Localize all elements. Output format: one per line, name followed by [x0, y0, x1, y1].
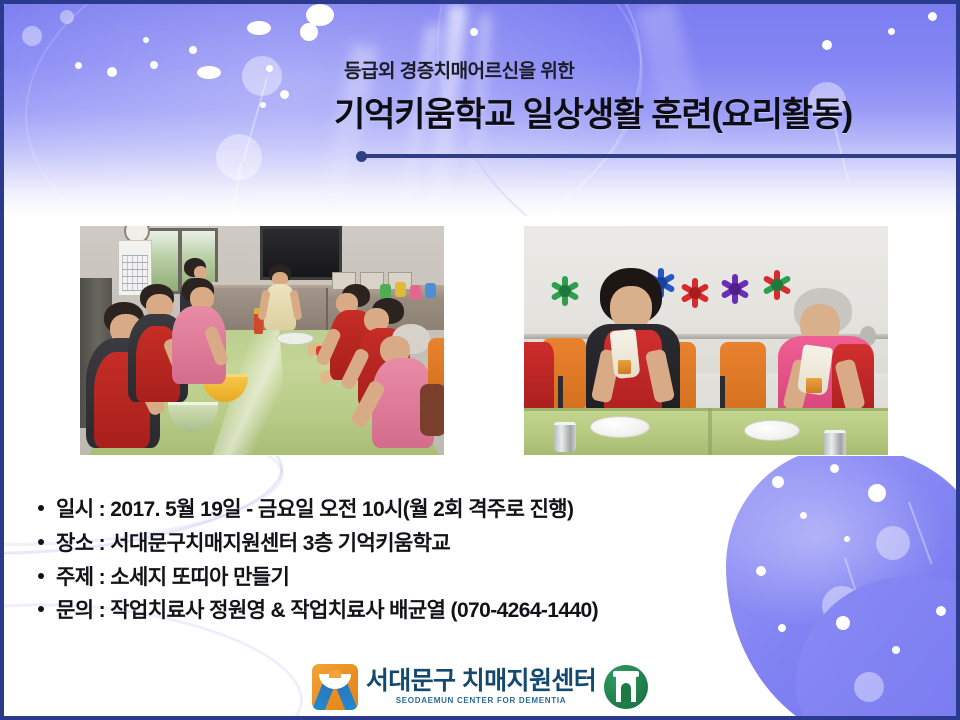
photo-tortilla-filling — [806, 378, 822, 393]
poster-slide: 등급외 경증치매어르신을 위한 기억키움학교 일상생활 훈련(요리활동) — [0, 0, 960, 720]
header-bokeh-dot — [470, 28, 478, 36]
logo-name-korean: 서대문구 치매지원센터 — [366, 669, 596, 694]
gate-swoosh — [606, 677, 646, 699]
independence-gate-emblem — [604, 665, 648, 709]
header-bokeh-dot — [300, 23, 318, 41]
decor-bokeh-dot — [830, 464, 839, 473]
decor-bokeh-dot — [876, 526, 910, 560]
poster-title: 기억키움학교 일상생활 훈련(요리활동) — [334, 87, 934, 136]
header-bokeh-dot — [197, 66, 221, 79]
header-bokeh-dot — [888, 28, 895, 35]
photo-chair-orange — [720, 342, 766, 414]
bullet-dot-icon — [38, 606, 44, 612]
title-block: 등급외 경증치매어르신을 위한 기억키움학교 일상생활 훈련(요리활동) — [334, 56, 934, 136]
photo-person-eating-right — [774, 288, 878, 416]
bullet-dot-icon — [38, 505, 44, 511]
photo-eating-tortilla — [524, 226, 888, 455]
photo-cup — [824, 430, 846, 455]
photo-pinwheel-green — [552, 278, 578, 304]
detail-location: 장소 : 서대문구치매지원센터 3층 기억키움학교 — [56, 532, 450, 557]
list-item: 일시 : 2017. 5월 19일 - 금요일 오전 10시(월 2회 격주로 … — [38, 498, 778, 523]
photo-table-seam — [708, 408, 712, 455]
list-item: 장소 : 서대문구치매지원센터 3층 기억키움학교 — [38, 532, 778, 557]
decor-bokeh-dot — [772, 476, 784, 488]
header-bokeh-dot — [280, 90, 289, 99]
header-bokeh-dot — [189, 46, 197, 54]
decor-bokeh-dot — [836, 616, 850, 630]
photo-plate — [590, 416, 650, 438]
bullet-dot-icon — [38, 539, 44, 545]
logo-text-block: 서대문구 치매지원센터 SEODAEMUN CENTER FOR DEMENTI… — [366, 669, 596, 705]
decor-bokeh-dot — [892, 646, 900, 654]
decor-bokeh-dot — [936, 606, 946, 616]
photo-person-participant — [172, 278, 230, 386]
decor-dandelion-stem — [908, 502, 932, 565]
header-bokeh-dot — [150, 61, 158, 69]
photo-wall-decoration — [395, 282, 406, 297]
header-bokeh-dot — [266, 65, 273, 72]
poster-subtitle: 등급외 경증치매어르신을 위한 — [344, 56, 934, 83]
photo-person-helper — [260, 264, 300, 336]
header-bokeh-dot — [928, 12, 937, 21]
header-bokeh-dot — [107, 67, 117, 77]
photo-wall-decoration — [425, 283, 436, 298]
photo-person-partial — [524, 342, 554, 414]
bullet-dot-icon — [38, 573, 44, 579]
details-list: 일시 : 2017. 5월 19일 - 금요일 오전 10시(월 2회 격주로 … — [38, 498, 778, 633]
decor-bokeh-dot — [800, 512, 807, 519]
list-item: 주제 : 소세지 또띠아 만들기 — [38, 566, 778, 591]
photo-wall-decoration — [380, 284, 391, 299]
photo-pinwheel-purple — [722, 276, 748, 302]
detail-datetime: 일시 : 2017. 5월 19일 - 금요일 오전 10시(월 2회 격주로 … — [56, 498, 573, 523]
photo-tortilla-filling — [618, 360, 631, 374]
header-bokeh-dot — [247, 21, 271, 35]
decor-bokeh-dot — [778, 624, 786, 632]
details-section: 일시 : 2017. 5월 19일 - 금요일 오전 10시(월 2회 격주로 … — [4, 456, 956, 716]
decor-bokeh-dot — [844, 536, 850, 542]
header-bokeh-dot — [822, 40, 832, 50]
photo-chair — [420, 384, 444, 436]
detail-topic: 주제 : 소세지 또띠아 만들기 — [56, 566, 289, 591]
header-bokeh-dot — [75, 62, 82, 69]
header-bokeh-dot — [306, 4, 334, 26]
header-dandelion-puff — [216, 134, 262, 180]
seodaemun-person-icon — [312, 664, 358, 710]
header-dandelion-stem — [230, 164, 242, 216]
title-divider — [356, 150, 956, 164]
decor-bokeh-dot — [868, 484, 886, 502]
footer-logo: 서대문구 치매지원센터 SEODAEMUN CENTER FOR DEMENTI… — [4, 664, 956, 710]
header-bokeh-dot — [260, 102, 266, 108]
logo-name-english: SEODAEMUN CENTER FOR DEMENTIA — [396, 697, 567, 705]
header-dandelion-puff — [242, 56, 282, 96]
list-item: 문의 : 작업치료사 정원영 & 작업치료사 배균열 (070-4264-144… — [38, 599, 778, 624]
photo-person-eating-left — [578, 268, 688, 416]
photo-cup — [554, 422, 576, 452]
header-bokeh-dot — [22, 26, 42, 46]
header-bokeh-dot — [143, 37, 149, 43]
header-bokeh-dot — [60, 10, 74, 24]
detail-contact: 문의 : 작업치료사 정원영 & 작업치료사 배균열 (070-4264-144… — [56, 599, 598, 624]
divider-line — [364, 154, 956, 158]
photo-cooking-class — [80, 226, 444, 455]
photo-plate — [744, 420, 800, 441]
header-dandelion-stem — [242, 78, 268, 161]
logo-bird-shape — [329, 670, 341, 678]
